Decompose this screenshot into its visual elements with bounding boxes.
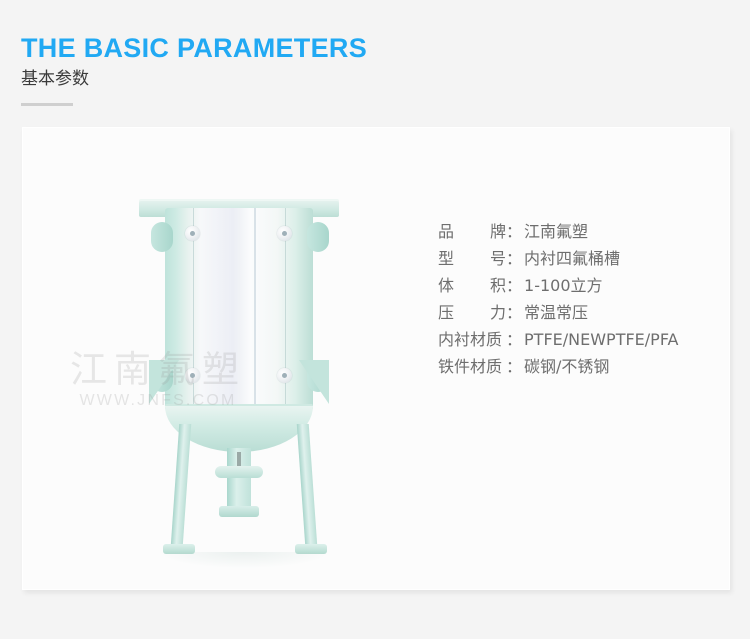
spec-row-metal-material: 铁件材质 ： 碳钢/不锈钢	[438, 353, 679, 380]
tank-bolt-boss-lower-left	[185, 368, 200, 383]
tank-gusset-right	[299, 360, 329, 404]
tank-side-lug-upper-left	[151, 222, 173, 252]
spec-label-volume: 体 积	[438, 272, 506, 296]
tank-drain-flange	[215, 466, 263, 478]
spec-row-brand: 品 牌 ： 江南氟塑	[438, 218, 679, 245]
spec-label-model: 型 号	[438, 245, 506, 269]
spec-value-volume: 1-100立方	[524, 272, 603, 296]
spec-colon-metal-material: ：	[506, 353, 522, 377]
spec-colon-pressure: ：	[506, 299, 522, 323]
tank-drain-foot	[219, 506, 259, 517]
spec-row-model: 型 号 ： 内衬四氟桶槽	[438, 245, 679, 272]
spec-row-pressure: 压 力 ： 常温常压	[438, 299, 679, 326]
spec-label-metal-material: 铁件材质	[438, 353, 506, 377]
spec-colon-volume: ：	[506, 272, 522, 296]
tank-bolt-boss-lower-right	[277, 368, 292, 383]
page-title-english: THE BASIC PARAMETERS	[21, 32, 521, 64]
product-image	[119, 156, 389, 571]
tank-bolt-boss-upper-left	[185, 226, 200, 241]
tank-leg-left	[171, 424, 192, 546]
spec-label-brand: 品 牌	[438, 218, 506, 242]
spec-value-metal-material: 碳钢/不锈钢	[524, 353, 609, 377]
page-header: THE BASIC PARAMETERS 基本参数	[21, 32, 521, 106]
spec-value-model: 内衬四氟桶槽	[524, 245, 620, 269]
spec-colon-lining-material: ：	[506, 326, 522, 350]
tank-panel-seam	[254, 208, 256, 408]
spec-value-lining-material: PTFE/NEWPTFE/PFA	[524, 330, 678, 349]
specification-list: 品 牌 ： 江南氟塑 型 号 ： 内衬四氟桶槽 体 积 ： 1-100立方 压	[438, 218, 679, 380]
spec-row-volume: 体 积 ： 1-100立方	[438, 272, 679, 299]
spec-colon-brand: ：	[506, 218, 522, 242]
floor-reflection	[159, 552, 329, 568]
spec-colon-model: ：	[506, 245, 522, 269]
tank-side-lug-upper-right	[307, 222, 329, 252]
tank-gusset-left	[149, 360, 179, 404]
tank-leg-right	[297, 424, 318, 546]
spec-label-pressure: 压 力	[438, 299, 506, 323]
spec-label-lining-material: 内衬材质	[438, 326, 506, 350]
spec-row-lining-material: 内衬材质 ： PTFE/NEWPTFE/PFA	[438, 326, 679, 353]
spec-value-pressure: 常温常压	[524, 299, 588, 323]
tank-bolt-boss-upper-right	[277, 226, 292, 241]
parameters-card: 江南氟塑 WWW.JNFS.COM 品 牌 ： 江南氟塑 型 号 ： 内衬四氟桶…	[22, 127, 730, 590]
page-title-chinese: 基本参数	[21, 66, 521, 92]
spec-value-brand: 江南氟塑	[524, 218, 588, 242]
title-divider-rule	[21, 103, 73, 106]
